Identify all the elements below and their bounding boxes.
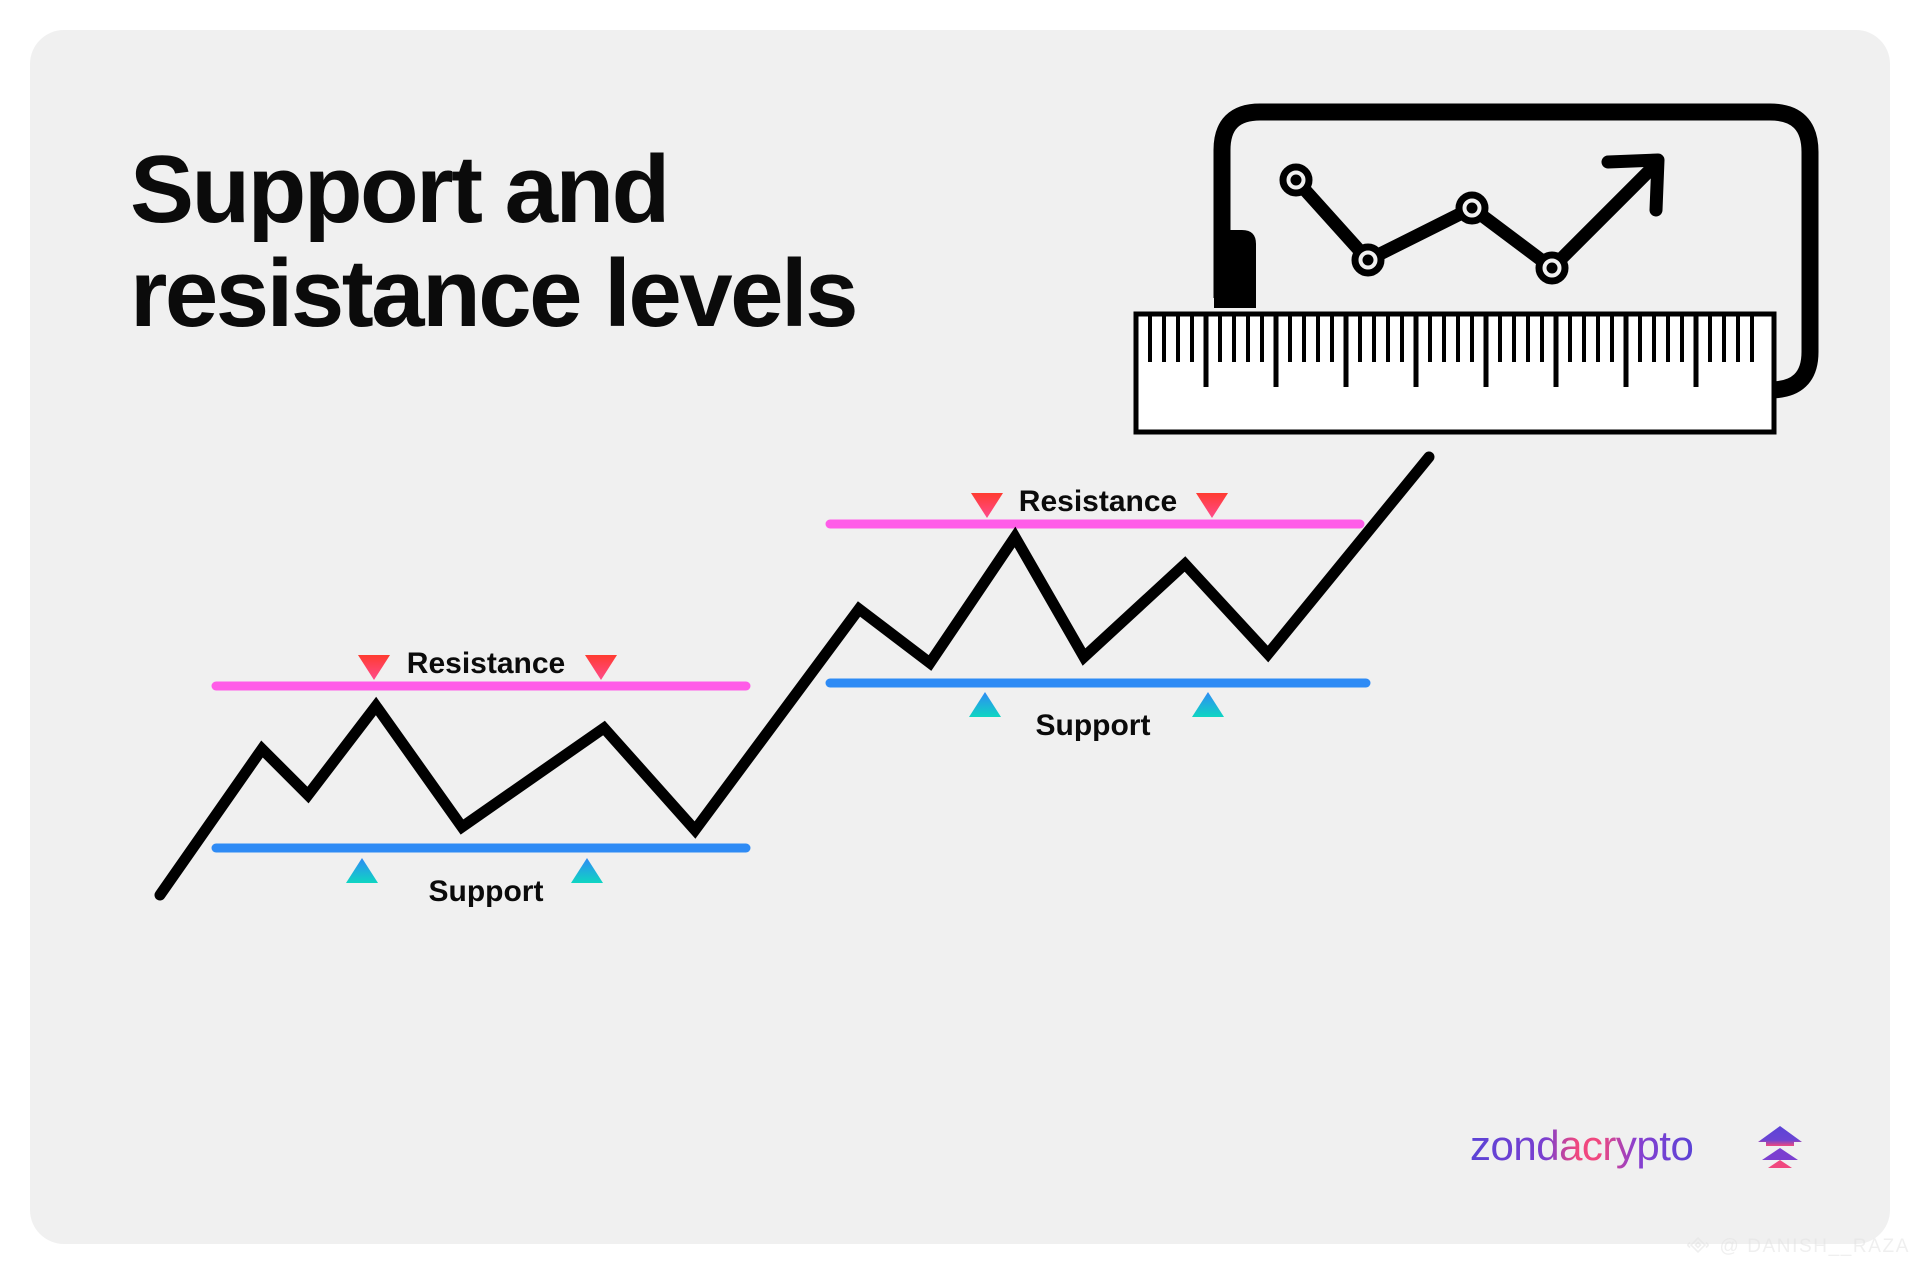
support-arrow-left-1 bbox=[346, 858, 378, 900]
screen-bezel-foot bbox=[1214, 286, 1256, 308]
zonda-arrow-mark-icon bbox=[1758, 1126, 1802, 1168]
resistance-arrow-left-2 bbox=[585, 638, 617, 680]
resistance-arrow-left-1 bbox=[358, 638, 390, 680]
ruler-icon bbox=[1136, 314, 1774, 432]
support-label-right: Support bbox=[1036, 709, 1151, 742]
watermark-handle: @ DANISH__RAZA bbox=[1719, 1236, 1910, 1258]
left-zone: Resistance Support bbox=[216, 638, 746, 908]
right-zone: Resistance Support bbox=[830, 476, 1366, 742]
support-arrow-left-2 bbox=[571, 858, 603, 900]
support-arrow-right-2 bbox=[1192, 692, 1224, 734]
infographic-card: Support and resistance levels bbox=[30, 30, 1890, 1244]
trend-point-markers bbox=[1283, 167, 1565, 281]
resistance-label-right: Resistance bbox=[1019, 485, 1177, 518]
resistance-label-left: Resistance bbox=[407, 647, 565, 680]
support-resistance-chart: Resistance Support Resistan bbox=[90, 450, 1890, 1150]
resistance-arrow-right-1 bbox=[971, 476, 1003, 518]
page-title: Support and resistance levels bbox=[130, 138, 856, 345]
zondacrypto-logo: zondacrypto bbox=[1470, 1118, 1810, 1174]
support-label-left: Support bbox=[429, 875, 544, 908]
diamond-icon bbox=[1685, 1234, 1711, 1260]
logo-wordmark: zondacrypto bbox=[1470, 1122, 1693, 1169]
watermark: @ DANISH__RAZA bbox=[1685, 1234, 1910, 1260]
screen-with-ruler-illustration bbox=[1110, 90, 1890, 450]
support-arrow-right-1 bbox=[969, 692, 1001, 734]
resistance-arrow-right-2 bbox=[1196, 476, 1228, 518]
